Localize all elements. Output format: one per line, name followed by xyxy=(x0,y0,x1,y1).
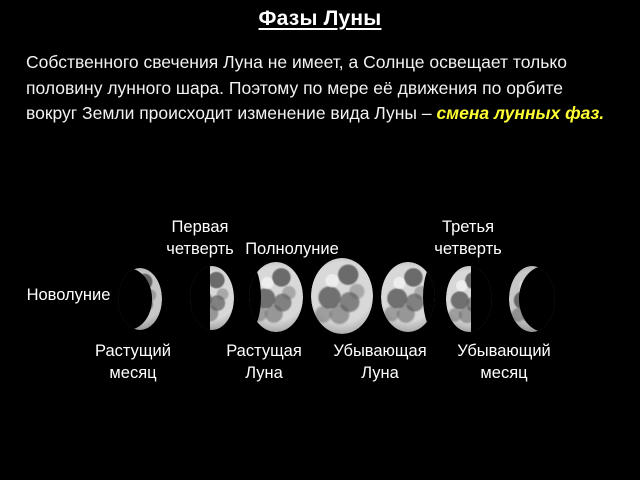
moon-waning-gibbous xyxy=(381,262,435,332)
moon-phases-diagram: Первая четверть Полнолуние Третья четвер… xyxy=(0,200,640,400)
label-waxing-crescent: Растущий месяц xyxy=(78,340,188,384)
label-waning-crescent: Убывающий месяц xyxy=(444,340,564,384)
label-waxing-gibbous-line2: Луна xyxy=(209,362,319,384)
label-new-moon: Новолуние xyxy=(6,284,131,306)
label-waxing-crescent-line1: Растущий xyxy=(78,340,188,362)
moon-full xyxy=(311,258,373,334)
page-title-text: Фазы Луны xyxy=(259,7,382,30)
moon-shadow xyxy=(471,266,492,332)
label-waning-crescent-line1: Убывающий xyxy=(444,340,564,362)
body-paragraph: Собственного свечения Луна не имеет, а С… xyxy=(26,50,618,127)
label-third-quarter-line2: четверть xyxy=(418,238,518,260)
moon-first-quarter xyxy=(190,266,234,330)
moon-third-quarter xyxy=(446,266,492,332)
moon-waxing-crescent xyxy=(118,268,162,330)
label-first-quarter-line1: Первая xyxy=(150,216,250,238)
moon-shadow xyxy=(190,266,210,330)
label-third-quarter: Третья четверть xyxy=(418,216,518,260)
slide-moon-phases: Фазы Луны Собственного свечения Луна не … xyxy=(0,0,640,480)
label-full-moon: Полнолуние xyxy=(232,238,352,260)
moon-waxing-gibbous xyxy=(249,262,303,332)
label-third-quarter-line1: Третья xyxy=(418,216,518,238)
label-waning-gibbous-line1: Убывающая xyxy=(320,340,440,362)
label-waxing-gibbous: Растущая Луна xyxy=(209,340,319,384)
page-title: Фазы Луны xyxy=(0,6,640,32)
moon-surface xyxy=(311,258,373,334)
paragraph-accent-text: смена лунных фаз. xyxy=(436,103,604,123)
label-waning-gibbous: Убывающая Луна xyxy=(320,340,440,384)
label-waning-crescent-line2: месяц xyxy=(444,362,564,384)
label-waxing-gibbous-line1: Растущая xyxy=(209,340,319,362)
moon-waning-crescent xyxy=(509,266,555,332)
label-waning-gibbous-line2: Луна xyxy=(320,362,440,384)
label-waxing-crescent-line2: месяц xyxy=(78,362,188,384)
